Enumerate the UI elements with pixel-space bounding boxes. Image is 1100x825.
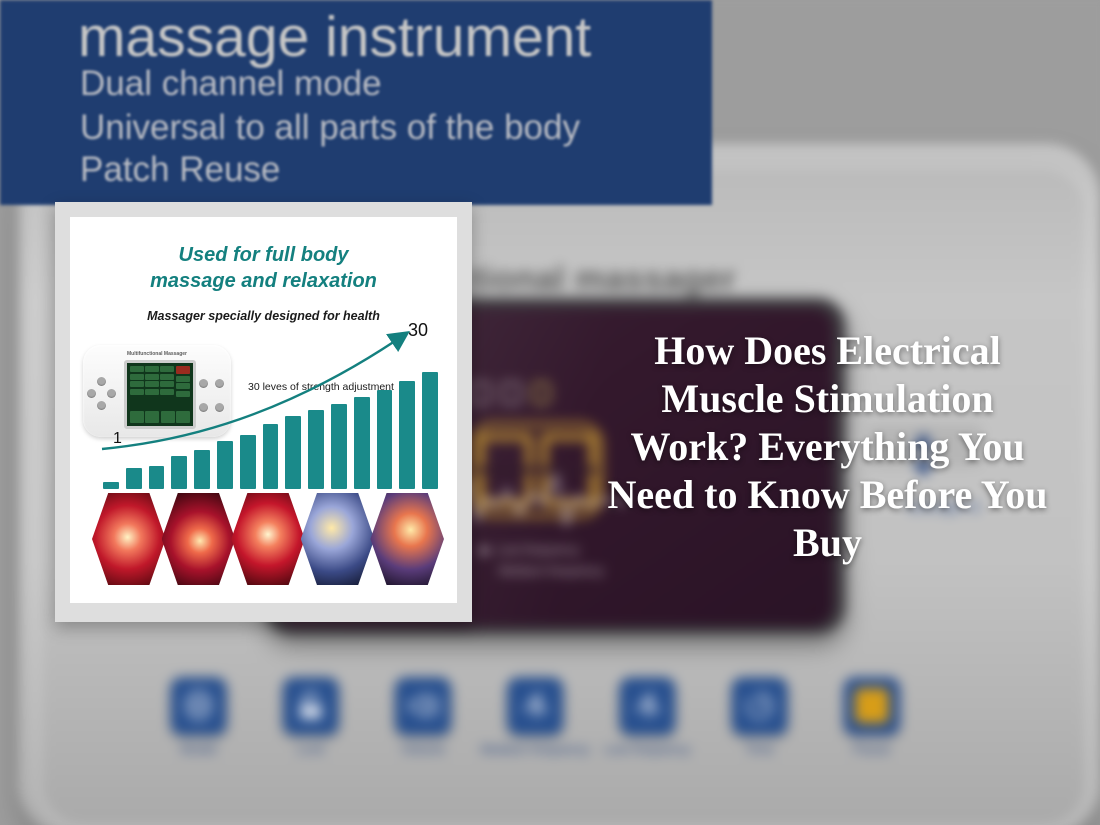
button-volume[interactable]: Volume [395,677,451,735]
bar-level-1 [103,482,119,489]
card-subheading: Massager specially designed for health [70,309,457,323]
hex-image-knee [231,493,305,585]
anatomy-hex-strip [92,493,440,585]
dpad-button [87,389,96,398]
blue-banner: massage instrument Dual channel mode Uni… [0,0,712,205]
hex-image-spine [162,493,236,585]
bar-level-11 [331,404,347,489]
button-label: Model [181,742,217,757]
chart-max-label: 30 [408,320,428,341]
device-product-text: ctional massager [453,259,736,298]
button-model[interactable]: Model [171,677,227,735]
button-low-frequency[interactable]: Low frequency [619,677,675,735]
bar-level-13 [377,390,393,489]
bar-level-4 [171,456,187,489]
hex-image-upper-back [370,493,444,585]
frequency-mode-list: ▶ Low frequency Medium frequency [481,543,604,580]
button-label: Lock [297,742,325,757]
bar-level-8 [263,424,279,489]
hex-image-hip [92,493,166,585]
button-label: Low frequency [604,742,690,757]
lock-icon [292,686,330,726]
bar-level-12 [354,397,370,489]
button-time[interactable]: Time [732,677,788,735]
button-label: Volume [401,742,445,757]
inset-marketing-card: Used for full bodymassage and relaxation… [55,202,472,622]
selected-marker-icon: ▶ [481,543,491,559]
button-pause[interactable]: Pause [844,677,900,735]
hex-image-shoulder [301,493,375,585]
bar-level-5 [194,450,210,489]
page-title: How Does Electrical Muscle Stimulation W… [600,327,1055,567]
banner-line-1: Dual channel mode [80,64,382,104]
device-button-row: Model Lock Volume [171,677,900,735]
pause-square-icon [855,688,889,723]
bar-level-7 [240,435,256,489]
screenshot-root: ctional massager Strength A [0,0,1100,825]
bar-level-10 [308,410,324,489]
screen-indicators [470,381,551,404]
banner-line-2: Universal to all parts of the body [80,108,580,148]
bar-level-15 [422,372,438,489]
bar-level-2 [126,468,142,489]
bar-level-6 [217,441,233,489]
card-content: Used for full bodymassage and relaxation… [70,217,457,603]
button-label: Medium frequency [481,742,590,757]
gear-flower-icon [180,686,218,726]
device-name-print: Multifunctional Massager [83,351,231,357]
volume-icon [404,686,442,726]
bar-level-3 [149,466,165,489]
button-medium-frequency[interactable]: Medium frequency [507,677,563,735]
banner-line-3: Patch Reuse [80,150,280,190]
clock-icon [741,686,779,726]
pulse-wave-icon [516,686,554,726]
banner-title: massage instrument [78,4,591,70]
button-lock[interactable]: Lock [283,677,339,735]
pulse-wave-icon [629,686,667,726]
strength-bar-chart [103,364,438,489]
button-label: Time [745,742,774,757]
button-label: Pause [853,742,891,757]
card-heading: Used for full bodymassage and relaxation [70,243,457,294]
bar-level-9 [285,416,301,489]
freq-low-label: Low frequency [497,543,580,559]
bar-level-14 [399,381,415,489]
freq-medium-label: Medium frequency [499,564,604,580]
